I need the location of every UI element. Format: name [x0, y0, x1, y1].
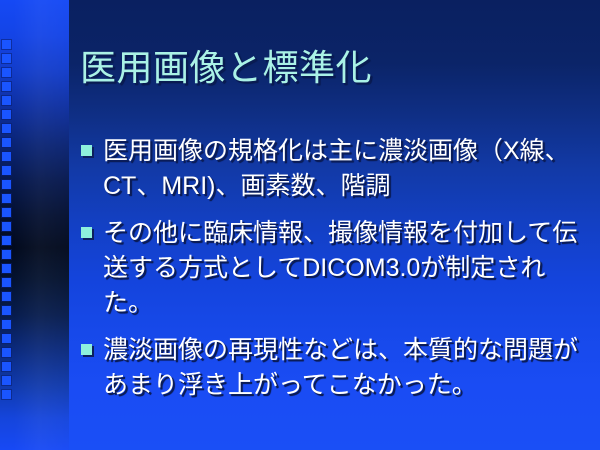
sidebar-square [2, 278, 11, 287]
sidebar-square [2, 110, 11, 119]
sidebar-square [2, 292, 11, 301]
sidebar-square [2, 376, 11, 385]
bullet-item-text: 濃淡画像の再現性などは、本質的な問題があまり浮き上がってこなかった。 [103, 333, 580, 403]
sidebar-square [2, 40, 11, 49]
square-bullet-icon [81, 344, 92, 355]
sidebar-square [2, 194, 11, 203]
sidebar-square [2, 124, 11, 133]
sidebar-square [2, 390, 11, 399]
sidebar-square [2, 68, 11, 77]
sidebar-square [2, 320, 11, 329]
bullet-item-text: その他に臨床情報、撮像情報を付加して伝送する方式としてDICOM3.0が制定され… [103, 216, 580, 321]
sidebar-square [2, 152, 11, 161]
sidebar-square [2, 362, 11, 371]
bullet-item-text: 医用画像の規格化は主に濃淡画像（X線、CT、MRI)、画素数、階調 [103, 134, 580, 204]
sidebar-square [2, 236, 11, 245]
sidebar-square [2, 166, 11, 175]
presentation-slide: 医用画像と標準化 医用画像の規格化は主に濃淡画像（X線、CT、MRI)、画素数、… [0, 0, 600, 450]
sidebar-square [2, 348, 11, 357]
sidebar-square [2, 54, 11, 63]
slide-body: 医用画像の規格化は主に濃淡画像（X線、CT、MRI)、画素数、階調 その他に臨床… [80, 134, 580, 415]
sidebar-square [2, 222, 11, 231]
slide-title: 医用画像と標準化 [80, 46, 580, 90]
bullet-item: 医用画像の規格化は主に濃淡画像（X線、CT、MRI)、画素数、階調 [80, 134, 580, 204]
sidebar-square [2, 208, 11, 217]
square-bullet-icon [81, 145, 92, 156]
sidebar-square-strip [2, 0, 14, 450]
square-bullet-icon [81, 227, 92, 238]
sidebar-square [2, 306, 11, 315]
sidebar-square [2, 334, 11, 343]
sidebar-square [2, 264, 11, 273]
bullet-item: その他に臨床情報、撮像情報を付加して伝送する方式としてDICOM3.0が制定され… [80, 216, 580, 321]
sidebar-square [2, 82, 11, 91]
sidebar-square [2, 250, 11, 259]
bullet-item: 濃淡画像の再現性などは、本質的な問題があまり浮き上がってこなかった。 [80, 333, 580, 403]
sidebar-square [2, 138, 11, 147]
slide-sidebar-decoration [0, 0, 69, 450]
sidebar-gradient-overlay [14, 0, 69, 450]
sidebar-square [2, 180, 11, 189]
sidebar-square [2, 96, 11, 105]
